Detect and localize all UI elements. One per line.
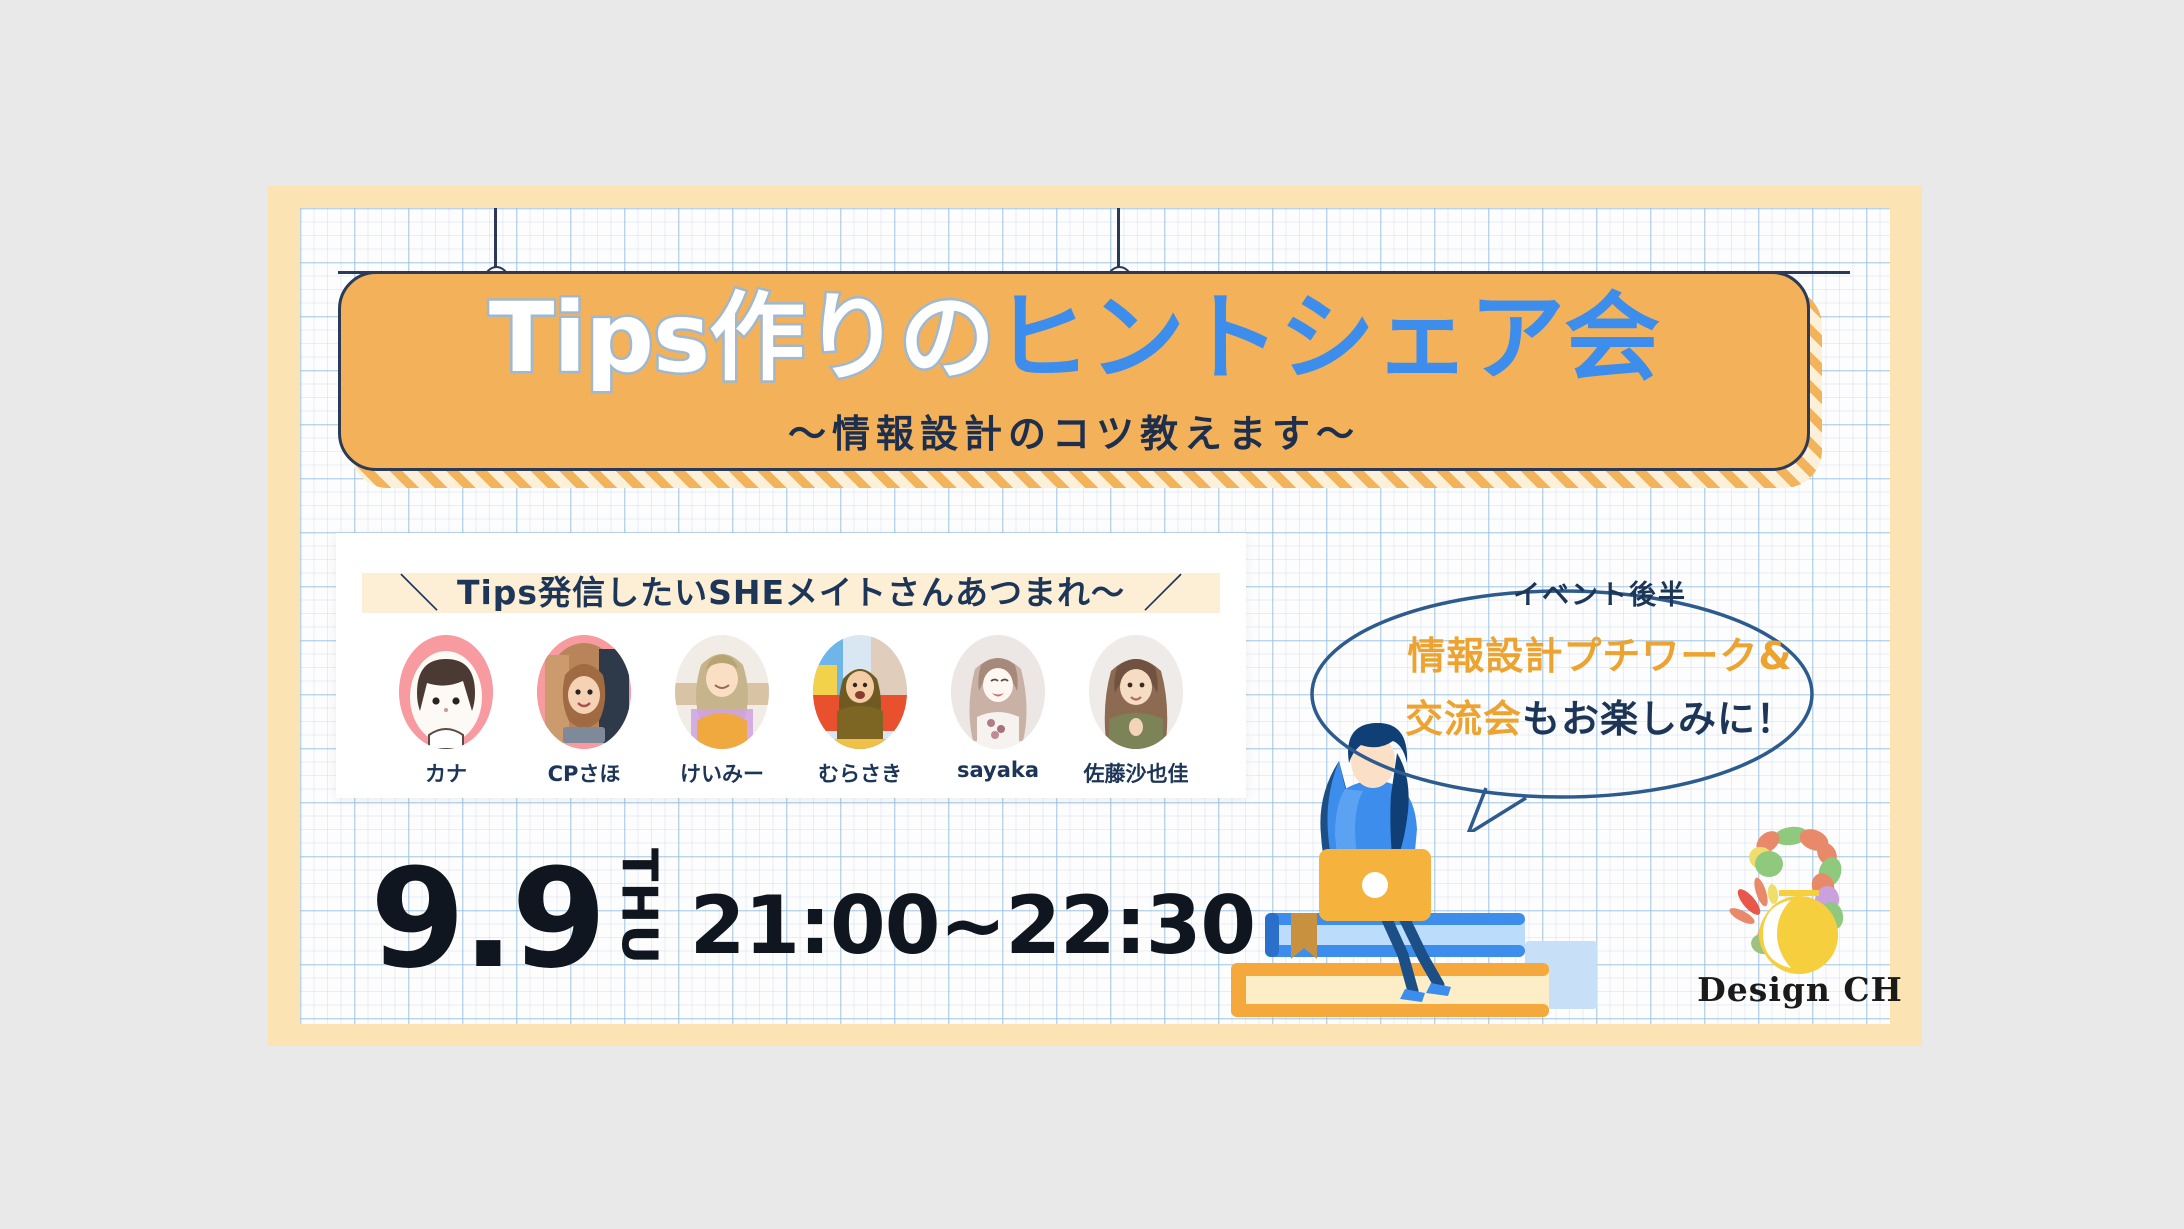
member-name: sayaka (942, 758, 1055, 782)
speech-bubble-text: イベント後半 情報設計プチワーク& 交流会もお楽しみに！ (1340, 573, 1860, 743)
slash-left-icon: ＼ (399, 561, 439, 619)
members-card: ＼ Tips発信したいSHEメイトさんあつまれ〜 ／ カナ (336, 533, 1246, 798)
member-item[interactable]: CPさほ (528, 635, 641, 788)
logo-text: Design CH (1680, 970, 1920, 1009)
member-item[interactable]: けいみー (666, 635, 779, 788)
avatar (951, 635, 1045, 749)
member-name: けいみー (666, 758, 779, 788)
bubble-line-2: 情報設計プチワーク& (1340, 625, 1860, 680)
hang-string-right (1117, 208, 1120, 271)
brand-logo: Design CH (1705, 820, 1890, 1015)
members-heading-text: Tips発信したいSHEメイトさんあつまれ〜 (457, 566, 1125, 614)
avatar (399, 635, 493, 749)
bubble-line-3-orange: 交流会 (1405, 697, 1522, 741)
member-item[interactable]: カナ (390, 635, 503, 788)
bubble-line-1: イベント後半 (1340, 573, 1860, 612)
avatar (1089, 635, 1183, 749)
avatar (675, 635, 769, 749)
members-avatar-list: カナ CPさほ (336, 635, 1246, 788)
member-item[interactable]: sayaka (942, 635, 1055, 788)
avatar (813, 635, 907, 749)
logo-mark-icon (1705, 820, 1890, 980)
avatar (537, 635, 631, 749)
title-banner: Tips作りのヒントシェア会 〜情報設計のコツ教えます〜 (338, 271, 1810, 471)
member-name: むらさき (804, 758, 917, 788)
member-item[interactable]: 佐藤沙也佳 (1080, 635, 1193, 788)
hang-string-left (494, 208, 497, 271)
event-day-of-week: THU (615, 848, 664, 965)
title-blue-part: ヒントシェア会 (994, 282, 1659, 394)
flyer-canvas: Tips作りのヒントシェア会 〜情報設計のコツ教えます〜 (0, 0, 2184, 1229)
member-name: CPさほ (528, 758, 641, 788)
title-no-part: の (899, 282, 994, 394)
event-time: 21:00~22:30 (690, 886, 1255, 966)
member-name: 佐藤沙也佳 (1080, 758, 1193, 788)
bubble-line-3-navy: もお楽しみに！ (1522, 697, 1795, 741)
event-date: 9.9 (370, 862, 604, 978)
title-white-part: Tips作り (489, 282, 899, 394)
member-name: カナ (390, 758, 503, 788)
member-item[interactable]: むらさき (804, 635, 917, 788)
schedule: 9.9 THU 21:00~22:30 (370, 848, 1255, 978)
banner-title: Tips作りのヒントシェア会 (489, 288, 1659, 389)
slash-right-icon: ／ (1143, 561, 1183, 619)
bubble-line-3: 交流会もお楽しみに！ (1340, 688, 1860, 743)
members-heading: ＼ Tips発信したいSHEメイトさんあつまれ〜 ／ (362, 559, 1220, 621)
banner-subtitle: 〜情報設計のコツ教えます〜 (788, 403, 1360, 458)
speech-bubble: イベント後半 情報設計プチワーク& 交流会もお楽しみに！ (1340, 531, 1860, 746)
